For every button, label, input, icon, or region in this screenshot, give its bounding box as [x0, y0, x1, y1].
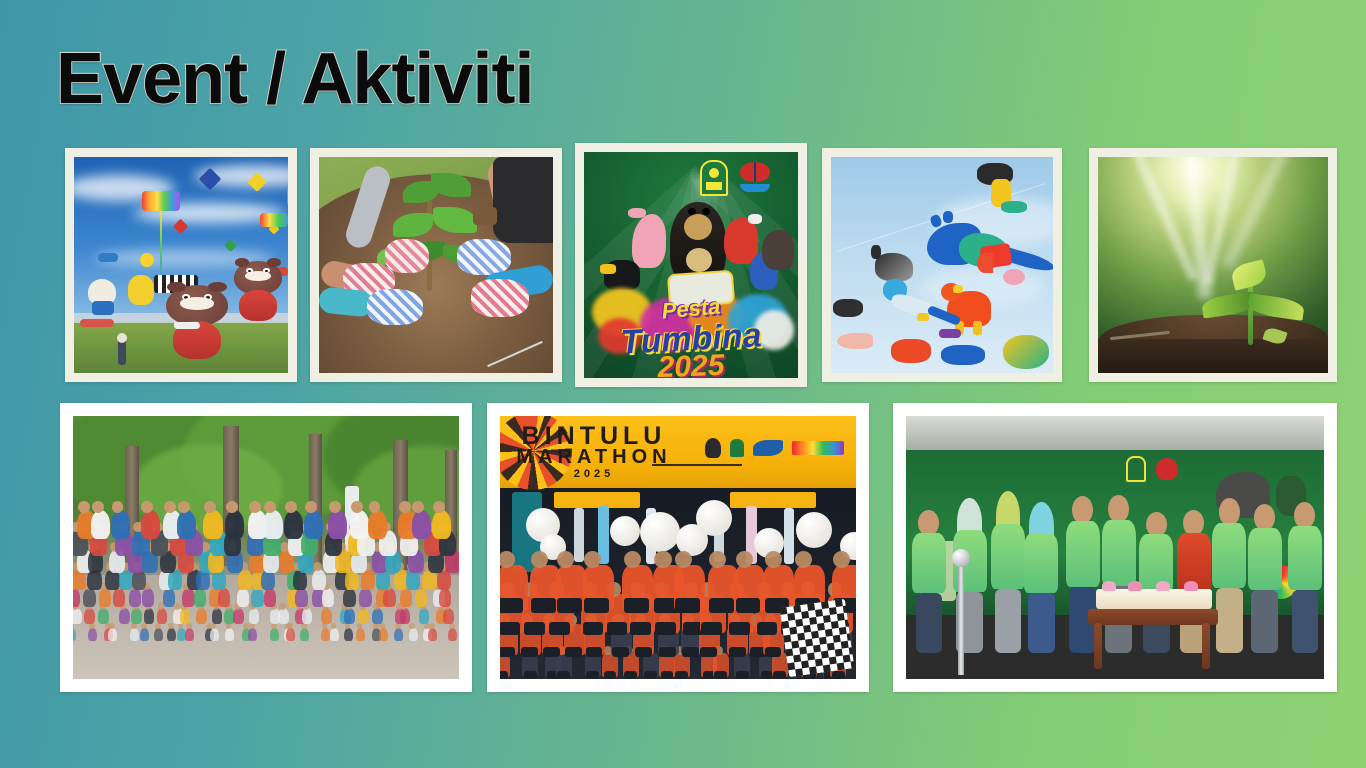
- council-logo-icon: [740, 162, 770, 194]
- photo-animal-kites-sky: [831, 157, 1053, 373]
- photo-pesta-tumbina-poster: Pesta Tumbina 2025: [584, 152, 798, 378]
- marathon-banner-line-3: 2025: [500, 468, 772, 480]
- sarawak-state-crest-icon: [700, 160, 728, 196]
- sarawak-crest-icon: [705, 438, 721, 458]
- photo-frame-animal-kites-sky[interactable]: [822, 148, 1062, 382]
- ceremony-table: [1088, 609, 1218, 625]
- photo-community-group-park: [73, 416, 459, 679]
- sponsor-logos: [705, 438, 844, 458]
- photo-frame-community-group-park[interactable]: [60, 403, 472, 692]
- bintulu-port-icon: [753, 440, 783, 456]
- photo-frame-pesta-tumbina-poster[interactable]: Pesta Tumbina 2025: [575, 143, 807, 387]
- photo-frame-bintulu-marathon-start[interactable]: BINTULU MARATHON 2025: [487, 403, 869, 692]
- photo-tree-planting-hands: [319, 157, 553, 373]
- ceremony-cake: [1096, 589, 1212, 609]
- photo-cake-cutting-ceremony: [906, 416, 1324, 679]
- sarawak-wordmark-icon: [792, 441, 844, 455]
- photo-frame-tree-planting-hands[interactable]: [310, 148, 562, 382]
- photo-kite-festival-field: [74, 157, 288, 373]
- photo-bintulu-marathon-start: BINTULU MARATHON 2025: [500, 416, 856, 679]
- photo-frame-cake-cutting-ceremony[interactable]: [893, 403, 1337, 692]
- page-title: Event / Aktiviti: [56, 38, 533, 120]
- bintulu-council-icon: [730, 439, 744, 457]
- photo-seedling-soil: [1098, 157, 1328, 373]
- photo-frame-kite-festival-field[interactable]: [65, 148, 297, 382]
- photo-frame-seedling-soil[interactable]: [1089, 148, 1337, 382]
